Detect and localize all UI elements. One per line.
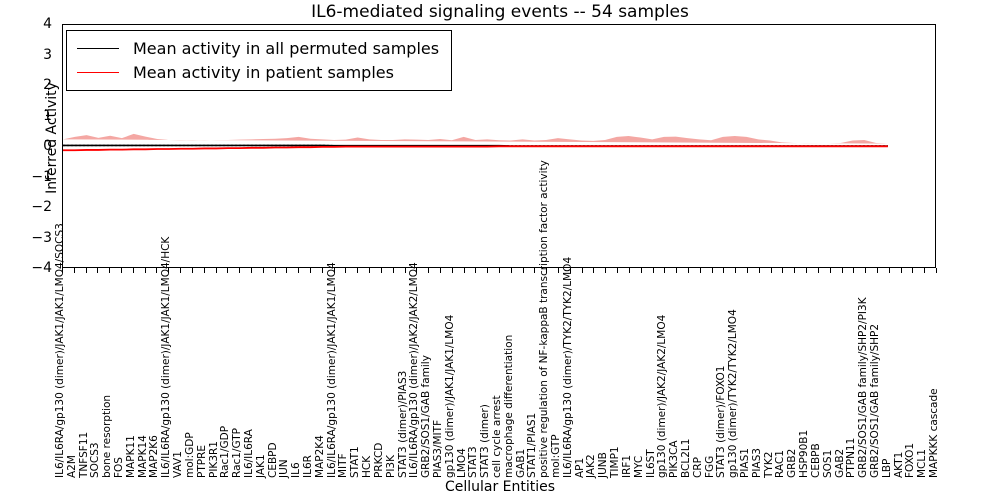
x-axis-tick-mark bbox=[901, 268, 902, 273]
x-axis-tick-mark bbox=[275, 268, 276, 273]
x-axis-tick-label: IL6/IL6RA/gp130 (dimer)/TYK2/TYK2/LMO4 bbox=[563, 257, 574, 478]
x-axis-tick-label: RAC1 bbox=[775, 450, 786, 478]
x-axis-tick-label: MITF bbox=[338, 453, 349, 478]
y-axis-tick-label: −1 bbox=[0, 171, 52, 183]
x-axis-tick-label: CEBPD bbox=[268, 442, 279, 478]
x-axis-tick-mark bbox=[216, 268, 217, 273]
x-axis-tick-label: PTPN11 bbox=[846, 438, 857, 478]
x-axis-tick-mark bbox=[782, 268, 783, 273]
x-axis-tick-label: PIAS3/MITF bbox=[433, 420, 444, 478]
x-axis-tick-mark bbox=[617, 268, 618, 273]
x-axis-tick-label: BCL2L1 bbox=[681, 439, 692, 478]
x-axis-tick-label: STAT3 (dimer) bbox=[480, 404, 491, 478]
x-axis-tick-mark bbox=[180, 268, 181, 273]
x-axis-tick-label: GRB2/SOS1/GAB family bbox=[421, 355, 432, 478]
x-axis-tick-label: GAB1 bbox=[516, 449, 527, 478]
x-axis-tick-label: IL6R bbox=[303, 455, 314, 478]
x-axis-tick-label: STAT3 bbox=[468, 446, 479, 478]
x-axis-tick-label: IRF1 bbox=[622, 455, 633, 478]
x-axis-tick-mark bbox=[440, 268, 441, 273]
x-axis-tick-label: STAT3 (dimer)/FOXO1 bbox=[716, 366, 727, 478]
x-axis-tick-label: CRP bbox=[693, 457, 704, 478]
x-axis-tick-label: LMO4 bbox=[457, 448, 468, 478]
x-axis-tick-labels: IL6/IL6RA/gp130 (dimer)/JAK1/JAK1/LMO4/S… bbox=[0, 268, 1000, 478]
x-axis-tick-label: mol:GTP bbox=[551, 434, 562, 478]
x-axis-tick-mark bbox=[641, 268, 642, 273]
x-axis-tick-mark bbox=[381, 268, 382, 273]
x-axis-label: Cellular Entities bbox=[0, 479, 1000, 495]
x-axis-tick-label: JAK2 bbox=[586, 454, 597, 478]
x-axis-tick-mark bbox=[735, 268, 736, 273]
x-axis-tick-label: IL6/IL6RA/gp130 (dimer)/JAK1/JAK1/LMO4/S… bbox=[55, 223, 66, 478]
x-axis-tick-mark bbox=[546, 268, 547, 273]
x-axis-tick-label: FOS bbox=[114, 457, 125, 478]
x-axis-tick-label: IL6/IL6RA/gp130 (dimer)/JAK1/JAK1/LMO4 bbox=[327, 262, 338, 478]
x-axis-tick-mark bbox=[712, 268, 713, 273]
x-axis-tick-label: MAP2K4 bbox=[315, 435, 326, 478]
x-axis-tick-label: JAK1 bbox=[256, 454, 267, 478]
x-axis-tick-mark bbox=[369, 268, 370, 273]
x-axis-tick-label: mol:GDP bbox=[185, 432, 196, 478]
x-axis-tick-mark bbox=[357, 268, 358, 273]
x-axis-tick-mark bbox=[86, 268, 87, 273]
x-axis-tick-mark bbox=[251, 268, 252, 273]
x-axis-tick-mark bbox=[523, 268, 524, 273]
y-axis-tick-label: 1 bbox=[0, 110, 52, 122]
x-axis-tick-mark bbox=[475, 268, 476, 273]
x-axis-tick-mark bbox=[464, 268, 465, 273]
legend-swatch-patient bbox=[77, 72, 119, 73]
x-axis-tick-label: JUNB bbox=[598, 452, 609, 478]
x-axis-tick-label: CEBPB bbox=[811, 443, 822, 478]
x-axis-tick-label: AKT1 bbox=[894, 452, 905, 478]
x-axis-tick-label: gp130 (dimer)/JAK1/JAK1/LMO4 bbox=[445, 315, 456, 478]
x-axis-tick-mark bbox=[605, 268, 606, 273]
x-axis-tick-label: GRB2/SOS1/GAB family/SHP2 bbox=[870, 324, 881, 478]
x-axis-tick-label: GAB2 bbox=[835, 449, 846, 478]
x-axis-tick-mark bbox=[593, 268, 594, 273]
x-axis-tick-mark bbox=[416, 268, 417, 273]
x-axis-tick-mark bbox=[794, 268, 795, 273]
x-axis-tick-label: JUN bbox=[279, 459, 290, 478]
chart-title: IL6-mediated signaling events -- 54 samp… bbox=[0, 2, 1000, 22]
x-axis-tick-mark bbox=[688, 268, 689, 273]
x-axis-tick-mark bbox=[759, 268, 760, 273]
x-axis-tick-mark bbox=[334, 268, 335, 273]
x-axis-tick-label: MCL1 bbox=[917, 449, 928, 478]
x-axis-tick-label: A2M bbox=[67, 455, 78, 478]
x-axis-tick-mark bbox=[286, 268, 287, 273]
x-axis-tick-label: SOCS3 bbox=[90, 442, 101, 478]
x-axis-tick-label: FGG bbox=[705, 456, 716, 478]
x-axis-tick-mark bbox=[877, 268, 878, 273]
x-axis-tick-mark bbox=[74, 268, 75, 273]
x-axis-tick-mark bbox=[499, 268, 500, 273]
x-axis-tick-label: PTPRE bbox=[197, 445, 208, 478]
x-axis-tick-label: Rac1/GDP bbox=[220, 426, 231, 478]
x-axis-tick-mark bbox=[168, 268, 169, 273]
x-axis-tick-label: LBP bbox=[882, 459, 893, 478]
x-axis-tick-label: macrophage differentiation bbox=[504, 335, 515, 478]
x-axis-tick-label: IL6/IL6RA/gp130 (dimer)/JAK2/JAK2/LMO4 bbox=[409, 262, 420, 478]
x-axis-tick-mark bbox=[109, 268, 110, 273]
x-axis-tick-mark bbox=[865, 268, 866, 273]
x-axis-tick-mark bbox=[428, 268, 429, 273]
patient-stddev-band bbox=[63, 134, 888, 144]
x-axis-tick-mark bbox=[511, 268, 512, 273]
x-axis-tick-mark bbox=[830, 268, 831, 273]
x-axis-tick-mark bbox=[263, 268, 264, 273]
x-axis-tick-mark bbox=[227, 268, 228, 273]
x-axis-tick-mark bbox=[889, 268, 890, 273]
x-axis-tick-label: gp130 (dimer)/JAK2/JAK2/LMO4 bbox=[657, 315, 668, 478]
x-axis-tick-mark bbox=[747, 268, 748, 273]
y-axis-tick-label: 0 bbox=[0, 140, 52, 152]
x-axis-tick-mark bbox=[298, 268, 299, 273]
x-axis-tick-label: IL6/IL6RA/gp130 (dimer)/JAK1/JAK1/LMO4/H… bbox=[161, 237, 172, 478]
x-axis-tick-label: PIK3CA bbox=[669, 440, 680, 478]
legend-label-permuted: Mean activity in all permuted samples bbox=[133, 39, 439, 58]
x-axis-tick-mark bbox=[322, 268, 323, 273]
y-axis-tick-label: −3 bbox=[0, 232, 52, 244]
y-axis-tick-label: −2 bbox=[0, 201, 52, 213]
legend-label-patient: Mean activity in patient samples bbox=[133, 63, 394, 82]
x-axis-tick-mark bbox=[239, 268, 240, 273]
x-axis-tick-mark bbox=[192, 268, 193, 273]
x-axis-tick-label: VAV1 bbox=[173, 451, 184, 478]
x-axis-tick-label: PIAS1 bbox=[740, 448, 751, 478]
x-axis-tick-label: MAPK11 bbox=[126, 435, 137, 478]
x-axis-tick-label: TYK2 bbox=[764, 452, 775, 478]
x-axis-tick-label: bone resorption bbox=[102, 395, 113, 478]
x-axis-tick-label: TIMP1 bbox=[610, 446, 621, 478]
x-axis-tick-mark bbox=[570, 268, 571, 273]
x-axis-tick-mark bbox=[771, 268, 772, 273]
x-axis-tick-mark bbox=[558, 268, 559, 273]
x-axis-tick-label: STAT1/PIAS1 bbox=[527, 413, 538, 478]
x-axis-tick-mark bbox=[700, 268, 701, 273]
x-axis-tick-mark bbox=[393, 268, 394, 273]
x-axis-tick-label: TNFSF11 bbox=[79, 432, 90, 478]
x-axis-tick-label: PRKCD bbox=[374, 443, 385, 478]
x-axis-tick-label: cell cycle arrest bbox=[492, 395, 503, 478]
x-axis-tick-mark bbox=[534, 268, 535, 273]
x-axis-tick-label: gp130 (dimer)/TYK2/TYK2/LMO4 bbox=[728, 309, 739, 478]
x-axis-tick-mark bbox=[818, 268, 819, 273]
x-axis-tick-mark bbox=[121, 268, 122, 273]
x-axis-tick-mark bbox=[924, 268, 925, 273]
x-axis-tick-mark bbox=[912, 268, 913, 273]
x-axis-tick-mark bbox=[345, 268, 346, 273]
x-axis-tick-label: positive regulation of NF-kappaB transcr… bbox=[539, 160, 550, 478]
x-axis-tick-mark bbox=[97, 268, 98, 273]
x-axis-tick-mark bbox=[487, 268, 488, 273]
legend-swatch-permuted bbox=[77, 48, 119, 49]
x-axis-tick-label: HCK bbox=[362, 456, 373, 478]
x-axis-tick-label: PIAS3 bbox=[752, 448, 763, 478]
x-axis-tick-label: GRB2/SOS1/GAB family/SHP2/PI3K bbox=[858, 297, 869, 478]
x-axis-tick-mark bbox=[676, 268, 677, 273]
chart-figure: IL6-mediated signaling events -- 54 samp… bbox=[0, 0, 1000, 500]
chart-legend: Mean activity in all permuted samples Me… bbox=[66, 30, 452, 91]
legend-item-patient: Mean activity in patient samples bbox=[77, 60, 439, 84]
x-axis-tick-mark bbox=[806, 268, 807, 273]
x-axis-tick-mark bbox=[156, 268, 157, 273]
x-axis-tick-mark bbox=[936, 268, 937, 273]
x-axis-tick-label: MYC bbox=[634, 456, 645, 478]
x-axis-tick-label: STAT1 bbox=[350, 446, 361, 478]
x-axis-tick-mark bbox=[853, 268, 854, 273]
x-axis-tick-label: PI3K bbox=[386, 455, 397, 478]
x-axis-tick-label: STAT3 (dimer)/PIAS3 bbox=[398, 371, 409, 478]
patient-mean-line bbox=[63, 146, 888, 150]
x-axis-tick-label: MAPKKK cascade bbox=[929, 388, 940, 478]
x-axis-tick-mark bbox=[723, 268, 724, 273]
legend-item-permuted: Mean activity in all permuted samples bbox=[77, 36, 439, 60]
x-axis-tick-mark bbox=[664, 268, 665, 273]
x-axis-tick-mark bbox=[405, 268, 406, 273]
x-axis-tick-mark bbox=[653, 268, 654, 273]
x-axis-tick-label: IL6 bbox=[291, 462, 302, 478]
x-axis-tick-mark bbox=[62, 268, 63, 273]
x-axis-tick-mark bbox=[204, 268, 205, 273]
y-axis-tick-label: 4 bbox=[0, 18, 52, 30]
x-axis-tick-label: Rac1/GTP bbox=[232, 428, 243, 478]
x-axis-tick-label: SOS1 bbox=[823, 450, 834, 478]
x-axis-tick-mark bbox=[629, 268, 630, 273]
x-axis-tick-label: MAP2K6 bbox=[149, 435, 160, 478]
x-axis-tick-mark bbox=[842, 268, 843, 273]
x-axis-tick-mark bbox=[133, 268, 134, 273]
x-axis-tick-label: HSP90B1 bbox=[799, 430, 810, 478]
x-axis-tick-label: PIK3R1 bbox=[209, 441, 220, 478]
x-axis-tick-mark bbox=[145, 268, 146, 273]
x-axis-tick-label: GRB2 bbox=[787, 449, 798, 478]
x-axis-tick-mark bbox=[452, 268, 453, 273]
x-axis-tick-label: IL6ST bbox=[646, 449, 657, 478]
y-axis-tick-label: 2 bbox=[0, 79, 52, 91]
x-axis-tick-label: IL6/IL6RA bbox=[244, 429, 255, 478]
x-axis-tick-label: FOXO1 bbox=[905, 443, 916, 478]
y-axis-tick-label: 3 bbox=[0, 49, 52, 61]
x-axis-tick-mark bbox=[582, 268, 583, 273]
x-axis-tick-mark bbox=[310, 268, 311, 273]
